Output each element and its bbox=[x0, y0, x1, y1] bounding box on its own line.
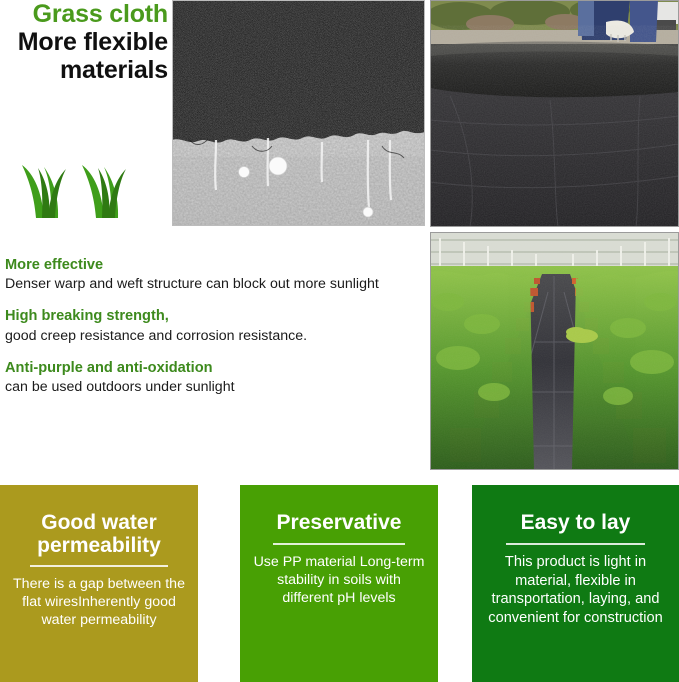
panel-title: Good water permeability bbox=[10, 511, 188, 557]
page-title: Grass cloth More flexible materials bbox=[0, 0, 172, 84]
feature-body: can be used outdoors under sunlight bbox=[5, 378, 425, 396]
feature-heading: Anti-purple and anti-oxidation bbox=[5, 359, 425, 377]
feature-item-anti-purple-anti-oxidation: Anti-purple and anti-oxidation can be us… bbox=[5, 359, 425, 396]
panel-good-water-permeability: Good water permeability There is a gap b… bbox=[0, 485, 198, 682]
product-infographic: Grass cloth More flexible materials bbox=[0, 0, 679, 682]
feature-body: good creep resistance and corrosion resi… bbox=[5, 327, 425, 345]
panel-text: Use PP material Long-term stability in s… bbox=[250, 553, 428, 607]
feature-heading: More effective bbox=[5, 256, 425, 274]
feature-heading: High breaking strength, bbox=[5, 307, 425, 325]
feature-list: More effective Denser warp and weft stru… bbox=[5, 256, 425, 410]
photo-worker-unrolling-fabric bbox=[430, 0, 679, 227]
panel-title: Easy to lay bbox=[521, 511, 631, 534]
grass-tufts-icon bbox=[14, 160, 154, 222]
panel-text: This product is light in material, flexi… bbox=[482, 553, 669, 627]
title-line-more-flexible: More flexible bbox=[0, 28, 168, 56]
panel-divider bbox=[506, 543, 644, 545]
photo-greenhouse-aisle-fabric bbox=[430, 232, 679, 470]
panel-easy-to-lay: Easy to lay This product is light in mat… bbox=[472, 485, 679, 682]
feature-body: Denser warp and weft structure can block… bbox=[5, 275, 425, 293]
panel-preservative: Preservative Use PP material Long-term s… bbox=[240, 485, 438, 682]
title-line-materials: materials bbox=[0, 56, 168, 84]
panel-text: There is a gap between the flat wiresInh… bbox=[10, 575, 188, 629]
feature-item-more-effective: More effective Denser warp and weft stru… bbox=[5, 256, 425, 293]
feature-item-high-breaking-strength: High breaking strength, good creep resis… bbox=[5, 307, 425, 344]
photo-fabric-water-permeability-closeup bbox=[172, 0, 425, 226]
panel-divider bbox=[30, 565, 169, 567]
title-line-grass-cloth: Grass cloth bbox=[0, 0, 168, 28]
panel-title: Preservative bbox=[277, 511, 402, 534]
panel-divider bbox=[273, 543, 405, 545]
